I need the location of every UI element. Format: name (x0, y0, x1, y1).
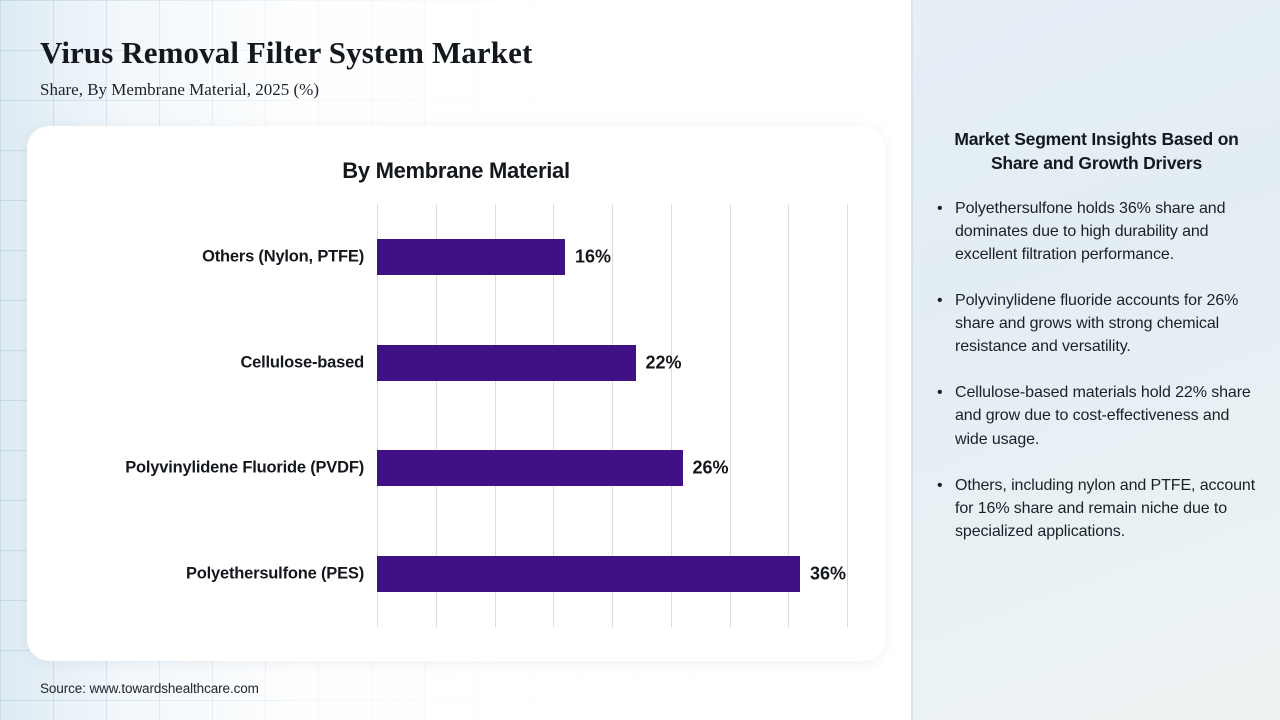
header: Virus Removal Filter System Market Share… (40, 36, 532, 100)
chart-bar[interactable] (377, 556, 800, 592)
insight-bullet-item: •Others, including nylon and PTFE, accou… (931, 474, 1262, 543)
insight-bullet-text: Others, including nylon and PTFE, accoun… (955, 477, 1255, 540)
chart-bar[interactable] (377, 239, 565, 275)
chart-title: By Membrane Material (27, 158, 885, 184)
source-note: Source: www.towardshealthcare.com (40, 681, 259, 696)
chart-bar-row: Cellulose-based22% (377, 310, 847, 416)
insight-bullet-text: Polyethersulfone holds 36% share and dom… (955, 200, 1225, 263)
bar-chart-plot-area: Others (Nylon, PTFE)16%Cellulose-based22… (377, 204, 847, 627)
insight-bullet-item: •Polyvinylidene fluoride accounts for 26… (931, 289, 1262, 358)
chart-bar[interactable] (377, 450, 683, 486)
bullet-dot-icon: • (937, 289, 943, 312)
chart-category-label: Polyethersulfone (PES) (186, 565, 364, 584)
insight-bullet-item: •Polyethersulfone holds 36% share and do… (931, 197, 1262, 266)
insights-panel-title: Market Segment Insights Based on Share a… (931, 0, 1262, 175)
chart-gridline (847, 204, 848, 627)
chart-category-label: Cellulose-based (240, 353, 364, 372)
chart-bar-value-label: 22% (646, 352, 682, 373)
insight-bullet-item: •Cellulose-based materials hold 22% shar… (931, 381, 1262, 450)
chart-bar-row: Polyethersulfone (PES)36% (377, 521, 847, 627)
chart-bar-value-label: 16% (575, 246, 611, 267)
bullet-dot-icon: • (937, 381, 943, 404)
chart-category-label: Others (Nylon, PTFE) (202, 247, 364, 266)
page-subtitle: Share, By Membrane Material, 2025 (%) (40, 80, 532, 100)
chart-bar-value-label: 36% (810, 564, 846, 585)
slide-canvas: Virus Removal Filter System Market Share… (0, 0, 1280, 720)
bullet-dot-icon: • (937, 474, 943, 497)
insight-bullet-text: Polyvinylidene fluoride accounts for 26%… (955, 292, 1238, 355)
chart-bar-value-label: 26% (693, 458, 729, 479)
page-title: Virus Removal Filter System Market (40, 36, 532, 70)
insight-bullet-text: Cellulose-based materials hold 22% share… (955, 384, 1251, 447)
chart-card: By Membrane Material Others (Nylon, PTFE… (27, 126, 885, 661)
insights-panel: Market Segment Insights Based on Share a… (913, 0, 1280, 720)
chart-category-label: Polyvinylidene Fluoride (PVDF) (125, 459, 364, 478)
bullet-dot-icon: • (937, 197, 943, 220)
insights-bullet-list: •Polyethersulfone holds 36% share and do… (931, 197, 1262, 542)
chart-bar-row: Others (Nylon, PTFE)16% (377, 204, 847, 310)
chart-bar-row: Polyvinylidene Fluoride (PVDF)26% (377, 416, 847, 522)
chart-bar[interactable] (377, 345, 636, 381)
